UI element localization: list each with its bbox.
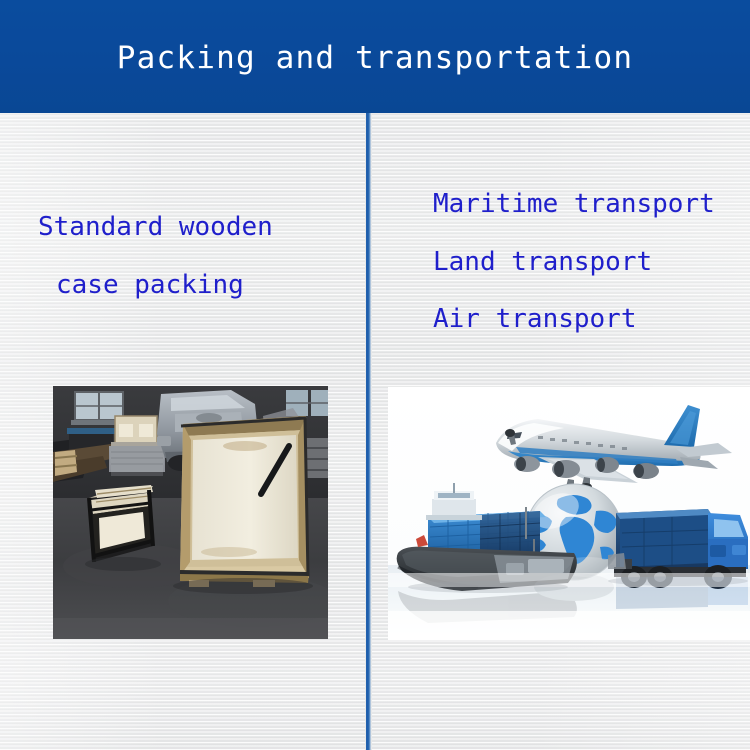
wooden-case-packing-photo [53, 386, 328, 639]
left-caption-line-2: case packing [56, 272, 244, 298]
page-title: Packing and transportation [117, 43, 633, 74]
transport-illustration-graphic [388, 387, 750, 640]
multimodal-transport-illustration [388, 387, 750, 640]
right-caption-line-1: Maritime transport [433, 191, 715, 217]
left-caption-line-1: Standard wooden [38, 214, 273, 240]
header-bar: Packing and transportation [0, 0, 750, 113]
wooden-case-photo-graphic [53, 386, 328, 639]
right-caption-line-2: Land transport [433, 249, 652, 275]
right-caption-line-3: Air transport [433, 306, 637, 332]
packing-transportation-banner: Packing and transportation Standard wood… [0, 0, 750, 750]
panel-divider [365, 113, 372, 750]
